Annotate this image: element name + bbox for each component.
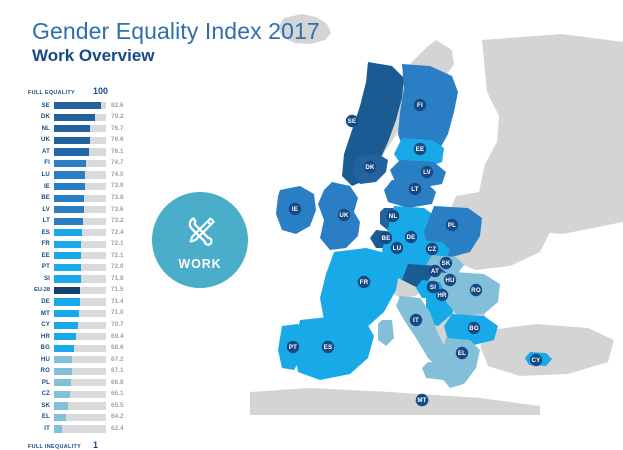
bar-row-value: 79.2 [106, 114, 137, 120]
bar-row-country-code: SE [28, 103, 54, 109]
map-label-text: EL [458, 350, 466, 357]
bar-row-country-code: FR [28, 241, 54, 247]
work-domain-badge[interactable]: WORK [152, 192, 248, 288]
scale-top: FULL EQUALITY 100 [28, 86, 138, 96]
bar-track [54, 218, 106, 225]
map-label-text: LV [423, 169, 432, 176]
bar-row[interactable]: FR72.1 [28, 239, 138, 251]
bar-fill [54, 102, 101, 109]
bar-row[interactable]: LT73.2 [28, 215, 138, 227]
bar-fill [54, 171, 85, 178]
bar-row-value: 64.2 [106, 414, 137, 420]
bar-fill [54, 391, 70, 398]
bar-row-value: 62.4 [106, 426, 137, 432]
badge-label: WORK [178, 257, 221, 271]
bar-track [54, 391, 106, 398]
map-label-text: LU [393, 245, 402, 252]
map-label-nl[interactable]: NL [387, 210, 399, 222]
map-label-text: LT [411, 186, 419, 193]
map-label-hu[interactable]: HU [444, 274, 456, 286]
bar-row-country-code: LV [28, 207, 54, 213]
map-label-text: MT [417, 397, 426, 404]
bar-row[interactable]: MT71.0 [28, 308, 138, 320]
bar-track [54, 125, 106, 132]
bar-row-country-code: EE [28, 253, 54, 259]
bar-row[interactable]: SK65.5 [28, 400, 138, 412]
bar-fill [54, 218, 83, 225]
bar-row[interactable]: CZ66.1 [28, 389, 138, 401]
bar-track [54, 148, 106, 155]
map-label-ie[interactable]: IE [289, 203, 301, 215]
infographic-root: SEFIEELVLTDKIEUKNLBELUDEFRPTESCZPLSKATHU… [0, 0, 623, 415]
map-label-bg[interactable]: BG [468, 322, 480, 334]
bar-row-value: 74.7 [106, 160, 137, 166]
map-label-sk[interactable]: SK [440, 257, 452, 269]
map-label-dk[interactable]: DK [364, 161, 376, 173]
map-label-text: UK [339, 212, 349, 219]
bar-row[interactable]: EE72.1 [28, 250, 138, 262]
bar-row-value: 72.4 [106, 230, 137, 236]
bar-row-value: 74.0 [106, 172, 137, 178]
bar-row-country-code: SI [28, 276, 54, 282]
map-label-text: HU [445, 277, 455, 284]
header: Gender Equality Index 2017 Work Overview [32, 18, 320, 67]
bar-row-value: 73.2 [106, 218, 137, 224]
bar-row-value: 73.6 [106, 207, 137, 213]
bar-row[interactable]: IT62.4 [28, 423, 138, 435]
bar-row-country-code: SK [28, 403, 54, 409]
bar-fill [54, 310, 79, 317]
map-label-text: NL [389, 213, 398, 220]
bar-row[interactable]: IE73.9 [28, 181, 138, 193]
bar-row-value: 67.2 [106, 357, 137, 363]
bar-row-country-code: HR [28, 334, 54, 340]
map-label-text: ES [324, 344, 333, 351]
bar-row-country-code: DK [28, 114, 54, 120]
bar-row[interactable]: AT76.1 [28, 146, 138, 158]
bar-track [54, 298, 106, 305]
map-label-fi[interactable]: FI [414, 99, 426, 111]
map-label-text: DK [365, 164, 375, 171]
map-label-text: AT [431, 268, 439, 275]
bar-row-country-code: HU [28, 357, 54, 363]
bar-fill [54, 137, 90, 144]
bar-row[interactable]: PT72.0 [28, 262, 138, 274]
country-ranking-chart: FULL EQUALITY 100 SE82.6DK79.2NL76.7UK76… [28, 86, 138, 450]
map-label-es[interactable]: ES [322, 341, 334, 353]
bar-row[interactable]: NL76.7 [28, 123, 138, 135]
bar-track [54, 402, 106, 409]
bar-fill [54, 287, 80, 294]
bar-row[interactable]: LV73.6 [28, 204, 138, 216]
map-label-mt[interactable]: MT [416, 394, 428, 406]
map-label-text: RO [471, 287, 481, 294]
map-label-text: FR [360, 279, 369, 286]
bar-row-value: 76.7 [106, 126, 137, 132]
bar-fill [54, 252, 81, 259]
map-label-uk[interactable]: UK [338, 209, 350, 221]
bar-fill [54, 148, 89, 155]
map-label-el[interactable]: EL [456, 347, 468, 359]
bar-row-value: 70.7 [106, 322, 137, 328]
bar-row[interactable]: HR69.4 [28, 331, 138, 343]
bar-track [54, 322, 106, 329]
bar-track [54, 379, 106, 386]
bar-row-value: 72.1 [106, 241, 137, 247]
bar-fill [54, 206, 84, 213]
map-label-text: DE [407, 234, 416, 241]
country-turkey [480, 324, 614, 376]
bar-row[interactable]: FI74.7 [28, 158, 138, 170]
bar-fill [54, 425, 62, 432]
bar-row[interactable]: DK79.2 [28, 112, 138, 124]
bar-row-country-code: LU [28, 172, 54, 178]
bar-fill [54, 298, 80, 305]
map-label-text: HR [437, 292, 447, 299]
bar-row-country-code: PL [28, 380, 54, 386]
wrench-pencil-icon [180, 210, 220, 252]
bar-track [54, 356, 106, 363]
bar-row-country-code: CY [28, 322, 54, 328]
map-label-cy[interactable]: CY [530, 354, 542, 366]
map-label-text: SK [442, 260, 451, 267]
bar-row[interactable]: BG68.6 [28, 342, 138, 354]
bar-fill [54, 195, 84, 202]
bar-row[interactable]: CY70.7 [28, 319, 138, 331]
bar-row[interactable]: ES72.4 [28, 227, 138, 239]
bar-track [54, 241, 106, 248]
bar-track [54, 310, 106, 317]
full-inequality-label: FULL INEQUALITY [28, 444, 90, 450]
bar-track [54, 425, 106, 432]
bar-row-value: 71.0 [106, 310, 137, 316]
map-label-hr[interactable]: HR [436, 289, 448, 301]
bar-fill [54, 333, 76, 340]
map-label-pt[interactable]: PT [287, 341, 299, 353]
bar-track [54, 345, 106, 352]
bar-row-country-code: EU-28 [28, 288, 54, 294]
bar-row-value: 65.5 [106, 403, 137, 409]
map-label-text: IE [292, 206, 298, 213]
map-label-text: FI [417, 102, 423, 109]
map-label-cz[interactable]: CZ [426, 243, 438, 255]
map-label-at[interactable]: AT [429, 265, 441, 277]
bar-row-value: 71.8 [106, 276, 137, 282]
bar-fill [54, 264, 81, 271]
bar-track [54, 102, 106, 109]
bar-track [54, 206, 106, 213]
bar-fill [54, 160, 86, 167]
bar-rows-container: SE82.6DK79.2NL76.7UK76.6AT76.1FI74.7LU74… [28, 100, 138, 435]
bar-row[interactable]: SE82.6 [28, 100, 138, 112]
bar-fill [54, 368, 72, 375]
country-north-africa [250, 388, 540, 415]
map-label-ee[interactable]: EE [414, 143, 426, 155]
bar-track [54, 195, 106, 202]
bar-track [54, 137, 106, 144]
country-IT-sardinia [378, 320, 394, 346]
map-label-text: CZ [428, 246, 437, 253]
bar-fill [54, 275, 81, 282]
bar-track [54, 333, 106, 340]
bar-fill [54, 414, 66, 421]
map-label-text: BE [382, 235, 391, 242]
bar-row-value: 73.8 [106, 195, 137, 201]
bar-fill [54, 183, 85, 190]
bar-fill [54, 241, 81, 248]
bar-track [54, 252, 106, 259]
bar-row-country-code: RO [28, 368, 54, 374]
bar-row-country-code: CZ [28, 391, 54, 397]
bar-row-country-code: NL [28, 126, 54, 132]
bar-fill [54, 379, 71, 386]
bar-fill [54, 229, 82, 236]
map-label-text: EE [416, 146, 425, 153]
bar-row-country-code: LT [28, 218, 54, 224]
scale-bottom: FULL INEQUALITY 1 [28, 440, 138, 450]
bar-row-value: 71.4 [106, 299, 137, 305]
page-subtitle: Work Overview [32, 45, 320, 67]
map-label-lt[interactable]: LT [409, 183, 421, 195]
full-equality-value: 100 [93, 86, 108, 96]
bar-row[interactable]: SI71.8 [28, 273, 138, 285]
bar-row-country-code: DE [28, 299, 54, 305]
bar-track [54, 114, 106, 121]
bar-row-value: 67.1 [106, 368, 137, 374]
bar-fill [54, 322, 78, 329]
map-label-text: SI [430, 284, 436, 291]
map-label-de[interactable]: DE [405, 231, 417, 243]
map-label-fr[interactable]: FR [358, 276, 370, 288]
bar-row-value: 68.6 [106, 345, 137, 351]
full-inequality-value: 1 [93, 440, 98, 450]
bar-row-value: 72.0 [106, 264, 137, 270]
bar-track [54, 160, 106, 167]
map-label-text: BG [469, 325, 479, 332]
bar-track [54, 414, 106, 421]
bar-row-country-code: MT [28, 311, 54, 317]
bar-fill [54, 114, 95, 121]
bar-track [54, 264, 106, 271]
map-label-text: PL [448, 222, 456, 229]
map-label-text: SE [348, 118, 357, 125]
bar-row-value: 69.4 [106, 334, 137, 340]
bar-row-country-code: PT [28, 264, 54, 270]
bar-track [54, 287, 106, 294]
bar-row-country-code: BG [28, 345, 54, 351]
bar-track [54, 183, 106, 190]
bar-fill [54, 125, 90, 132]
map-label-be[interactable]: BE [380, 232, 392, 244]
bar-row-country-code: BE [28, 195, 54, 201]
bar-track [54, 171, 106, 178]
bar-row-country-code: UK [28, 137, 54, 143]
bar-row-value: 76.1 [106, 149, 137, 155]
map-label-pl[interactable]: PL [446, 219, 458, 231]
bar-track [54, 275, 106, 282]
bar-row-value: 76.6 [106, 137, 137, 143]
bar-row-country-code: ES [28, 230, 54, 236]
full-equality-label: FULL EQUALITY [28, 90, 90, 96]
map-label-lu[interactable]: LU [391, 242, 403, 254]
bar-row-country-code: AT [28, 149, 54, 155]
bar-row-country-code: EL [28, 414, 54, 420]
bar-row-value: 71.5 [106, 287, 137, 293]
bar-row[interactable]: RO67.1 [28, 366, 138, 378]
map-label-se[interactable]: SE [346, 115, 358, 127]
bar-fill [54, 356, 72, 363]
bar-track [54, 368, 106, 375]
map-label-lv[interactable]: LV [421, 166, 433, 178]
bar-row-value: 73.9 [106, 183, 137, 189]
bar-fill [54, 345, 74, 352]
bar-row[interactable]: EL64.2 [28, 412, 138, 424]
bar-row-value: 66.8 [106, 380, 137, 386]
country-EL [440, 338, 480, 388]
bar-fill [54, 402, 68, 409]
bar-row[interactable]: LU74.0 [28, 169, 138, 181]
bar-row-value: 66.1 [106, 391, 137, 397]
map-label-text: CY [532, 357, 542, 364]
bar-row-country-code: FI [28, 160, 54, 166]
map-label-ro[interactable]: RO [470, 284, 482, 296]
bar-row[interactable]: PL66.8 [28, 377, 138, 389]
bar-row-country-code: IT [28, 426, 54, 432]
page-title: Gender Equality Index 2017 [32, 18, 320, 44]
bar-row-value: 82.6 [106, 103, 137, 109]
bar-row[interactable]: DE71.4 [28, 296, 138, 308]
bar-row-country-code: IE [28, 184, 54, 190]
bar-row[interactable]: EU-2871.5 [28, 285, 138, 297]
map-label-text: IT [413, 317, 419, 324]
map-label-it[interactable]: IT [410, 314, 422, 326]
bar-row[interactable]: HU67.2 [28, 354, 138, 366]
bar-track [54, 229, 106, 236]
bar-row[interactable]: BE73.8 [28, 192, 138, 204]
bar-row-value: 72.1 [106, 253, 137, 259]
bar-row[interactable]: UK76.6 [28, 135, 138, 147]
map-label-text: PT [289, 344, 297, 351]
